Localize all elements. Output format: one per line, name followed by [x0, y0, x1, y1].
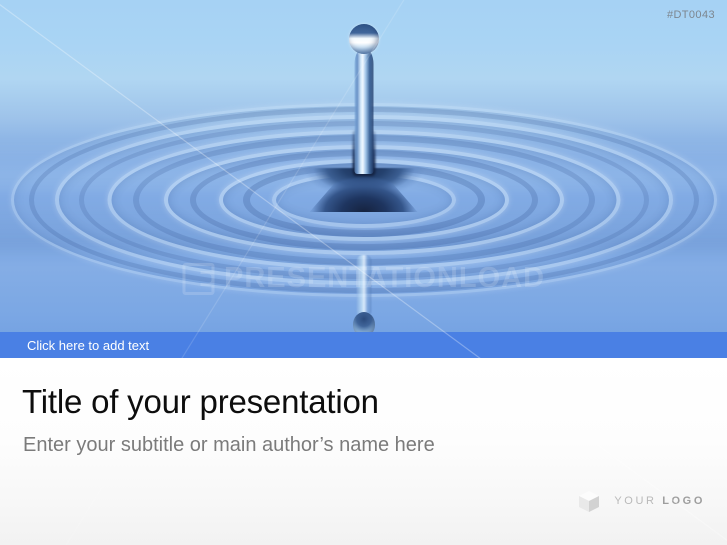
- caption-placeholder-text[interactable]: Click here to add text: [0, 339, 149, 352]
- logo-text: YOUR LOGO: [614, 495, 705, 507]
- splash-column: [354, 48, 373, 174]
- caption-placeholder-bar[interactable]: Click here to add text: [0, 332, 727, 358]
- logo-text-light: YOUR: [614, 495, 662, 507]
- page-title[interactable]: Title of your presentation: [22, 384, 379, 420]
- logo-placeholder[interactable]: YOUR LOGO: [576, 488, 705, 514]
- cube-logo-icon: [576, 488, 602, 514]
- title-text-area: Title of your presentation Enter your su…: [0, 358, 727, 545]
- water-drop-splash-photo: PRESENTATIONLOAD #DT0043: [0, 0, 727, 358]
- splash-column-reflection: [356, 255, 371, 317]
- presentation-slide: PRESENTATIONLOAD #DT0043 Click here to a…: [0, 0, 727, 545]
- page-subtitle[interactable]: Enter your subtitle or main author’s nam…: [23, 434, 435, 457]
- logo-text-bold: LOGO: [662, 495, 705, 507]
- slide-code-label: #DT0043: [667, 9, 715, 21]
- water-drop-sphere: [349, 24, 379, 54]
